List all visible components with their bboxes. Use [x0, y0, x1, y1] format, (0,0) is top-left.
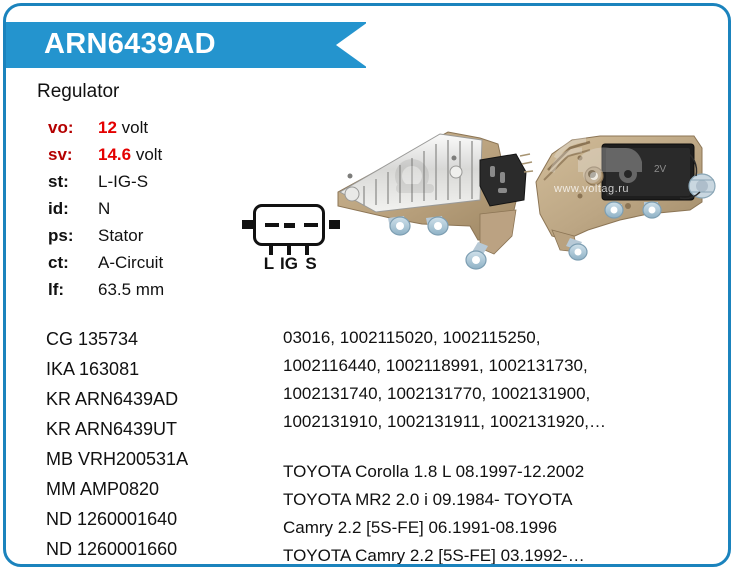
spec-key-vo: vo: [48, 118, 98, 145]
cross-reference-item: KR ARN6439AD [46, 384, 188, 414]
application-line: TOYOTA MR2 2.0 i 09.1984- TOYOTA [283, 486, 728, 514]
oe-number-list: 03016, 1002115020, 1002115250, 100211644… [283, 324, 723, 436]
cross-reference-list: CG 135734 IKA 163081 KR ARN6439AD KR ARN… [46, 324, 188, 564]
product-card: ARN6439AD Regulator vo: 12 volt sv: 14.6… [3, 3, 731, 567]
cross-reference-item: ND 1260001660 [46, 534, 188, 564]
connector-slot-3 [304, 223, 318, 227]
spec-value-ct: A-Circuit [98, 253, 164, 280]
pin-label-s: S [298, 254, 324, 274]
spec-key-st: st: [48, 172, 98, 199]
spec-key-lf: lf: [48, 280, 98, 307]
product-photo-group: 2V [330, 114, 730, 272]
cross-reference-item: CG 135734 [46, 324, 188, 354]
regulator-front-photo [330, 114, 535, 272]
application-line: TOYOTA Camry 2.2 [5S-FE] 03.1992-… [283, 542, 728, 567]
connector-tab-left [242, 220, 253, 229]
connector-slot-1 [265, 223, 279, 227]
spec-value-lf: 63.5 mm [98, 280, 164, 307]
cross-reference-item: IKA 163081 [46, 354, 188, 384]
page-title: ARN6439AD [44, 28, 216, 61]
spec-unit-vo: volt [122, 118, 148, 137]
spec-key-id: id: [48, 199, 98, 226]
spec-row-ct: ct: A-Circuit [48, 253, 164, 280]
spec-row-ps: ps: Stator [48, 226, 164, 253]
oe-number-line: 1002131740, 1002131770, 1002131900, [283, 380, 723, 408]
watermark-url: www.voltag.ru [553, 183, 629, 195]
spec-number-sv: 14.6 [98, 145, 131, 164]
cross-reference-item: MB VRH200531A [46, 444, 188, 474]
connector-3pin-icon: L IG S [242, 204, 340, 276]
product-type-label: Regulator [37, 81, 119, 103]
cross-reference-item: MM AMP0820 [46, 474, 188, 504]
spec-row-sv: sv: 14.6 volt [48, 145, 164, 172]
spec-key-ct: ct: [48, 253, 98, 280]
spec-number-vo: 12 [98, 118, 117, 137]
spec-value-sv: 14.6 volt [98, 145, 164, 172]
spec-key-ps: ps: [48, 226, 98, 253]
spec-row-id: id: N [48, 199, 164, 226]
spec-unit-sv: volt [136, 145, 162, 164]
oe-number-line: 03016, 1002115020, 1002115250, [283, 324, 723, 352]
cross-reference-item: ND 1260001640 [46, 504, 188, 534]
spec-row-lf: lf: 63.5 mm [48, 280, 164, 307]
application-list: TOYOTA Corolla 1.8 L 08.1997-12.2002 TOY… [283, 458, 728, 567]
oe-number-line: 1002116440, 1002118991, 1002131730, [283, 352, 723, 380]
spec-value-ps: Stator [98, 226, 164, 253]
spec-value-vo: 12 volt [98, 118, 164, 145]
application-line: Camry 2.2 [5S-FE] 06.1991-08.1996 [283, 514, 728, 542]
spec-table: vo: 12 volt sv: 14.6 volt st: L-IG-S id:… [48, 118, 164, 307]
application-line: TOYOTA Corolla 1.8 L 08.1997-12.2002 [283, 458, 728, 486]
spec-row-vo: vo: 12 volt [48, 118, 164, 145]
spec-row-st: st: L-IG-S [48, 172, 164, 199]
spec-value-st: L-IG-S [98, 172, 164, 199]
oe-number-line: 1002131910, 1002131911, 1002131920,… [283, 408, 723, 436]
regulator-back-photo: 2V [530, 114, 730, 272]
connector-slot-2 [284, 223, 295, 228]
cross-reference-item: KR ARN6439UT [46, 414, 188, 444]
regulator-marking: 2V [654, 164, 667, 175]
spec-value-id: N [98, 199, 164, 226]
spec-key-sv: sv: [48, 145, 98, 172]
